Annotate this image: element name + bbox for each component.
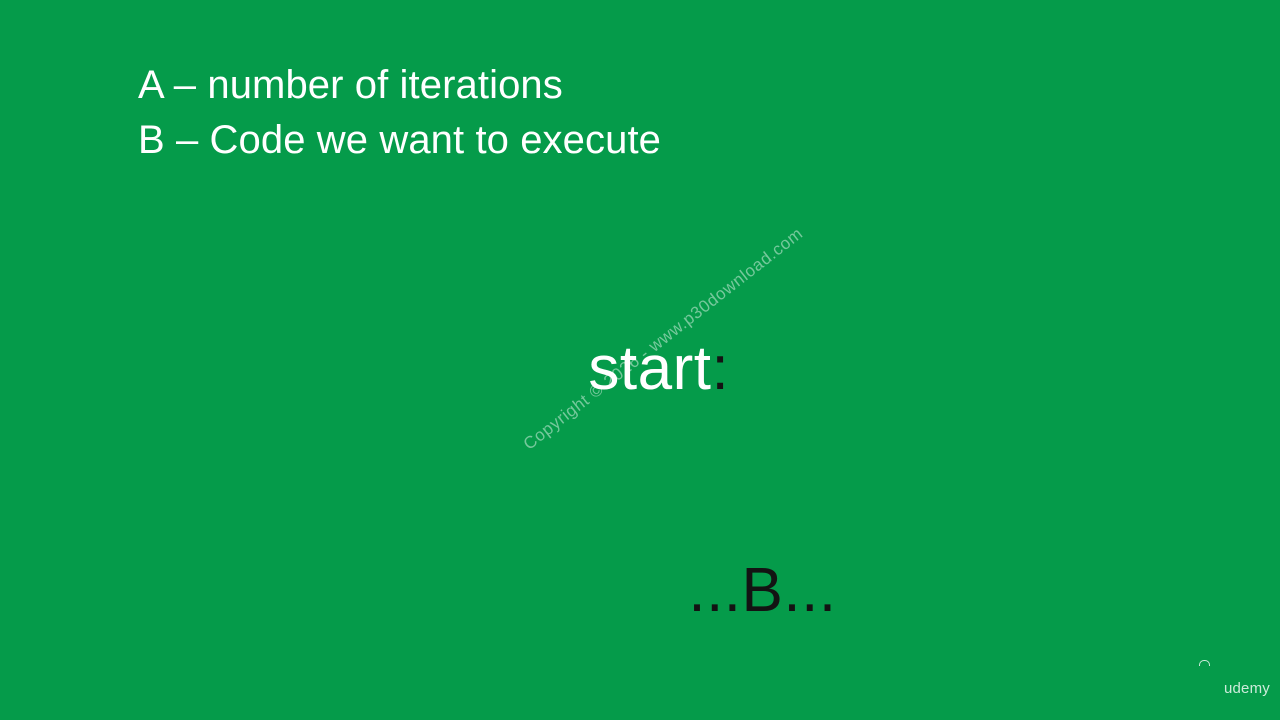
body-b-prefix-dots: ... [688, 556, 741, 625]
label-name: start [588, 334, 711, 403]
slide-canvas: A – number of iterations B – Code we wan… [0, 0, 1280, 720]
udemy-logo: udemy [1194, 661, 1274, 716]
udemy-wordmark-label: udemy [1224, 680, 1270, 697]
legend-line-a: A – number of iterations [138, 58, 958, 113]
label-colon: : [711, 334, 729, 403]
code-line-body-a: ...A... [470, 702, 890, 720]
body-b-symbol: B [742, 556, 784, 625]
code-line-body-b: ...B... [470, 480, 890, 702]
body-b-suffix-dots: ... [783, 556, 836, 625]
udemy-arc-icon [1199, 660, 1210, 666]
legend-block: A – number of iterations B – Code we wan… [138, 58, 958, 168]
legend-line-b: B – Code we want to execute [138, 113, 958, 168]
udemy-wordmark-text: udemy [1198, 663, 1270, 714]
code-line-label: start: [470, 258, 890, 480]
code-block: start: ...B... ...A... jcc start [470, 258, 890, 720]
